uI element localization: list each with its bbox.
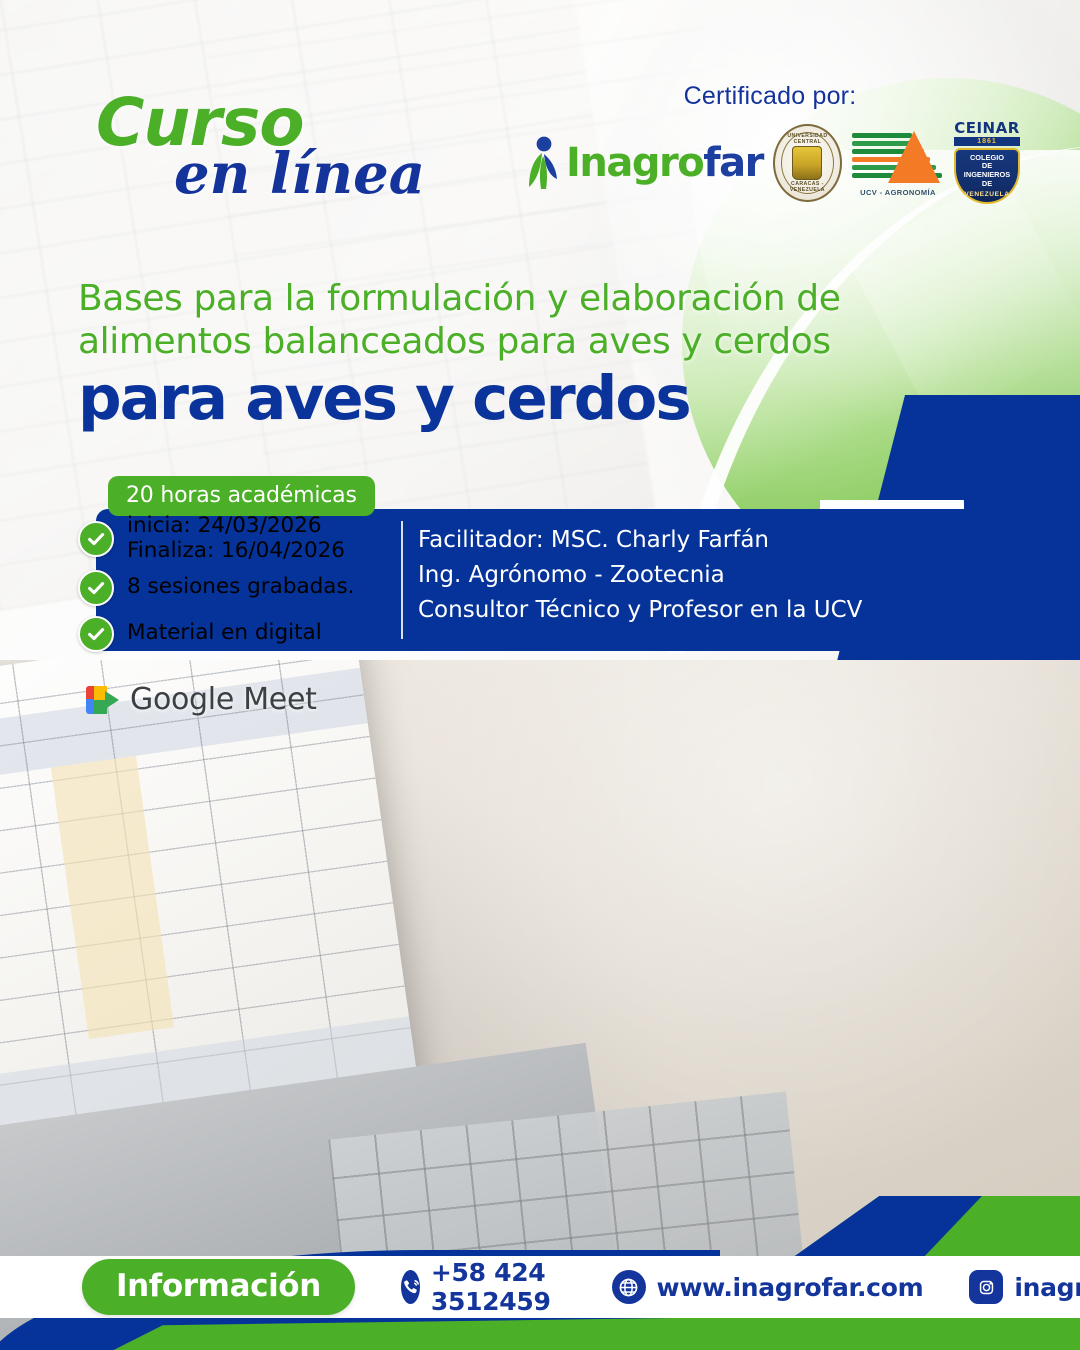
agronomia-a-shape [888,131,940,183]
ceinar-year: 1861 [954,137,1020,146]
ceinar-shield: COLEGIO DE INGENIEROS DE VENEZUELA [954,148,1020,204]
google-meet-badge: Google Meet [86,682,317,717]
google-meet-icon [86,686,120,714]
certified-by-label: Certificado por: [520,82,1020,111]
agronomia-glyph [852,129,944,185]
facilitator-line-3: Consultor Técnico y Profesor en la UCV [418,593,862,628]
kicker-en-linea: en línea [174,149,516,199]
bullet-dates: inicia: 24/03/2026 Finaliza: 16/04/2026 [78,514,355,564]
title-line-1: Bases para la formulación y elaboración … [78,278,898,321]
wordmark-i: I [566,140,579,186]
wordmark-far: far [703,140,763,186]
phone-number: +58 424 3512459 [431,1258,566,1316]
bullet-sessions-text: 8 sesiones grabadas. [127,575,355,600]
ucv-seal-icon: UNIVERSIDAD CENTRAL CARACAS - VENEZUELA [773,124,842,202]
facilitator-block: Facilitador: MSC. Charly Farfán Ing. Agr… [418,523,862,628]
course-bullets: inicia: 24/03/2026 Finaliza: 16/04/2026 … [78,514,355,656]
instagram-handle: inagrofar [1014,1273,1080,1302]
bullet-material-text: Material en digital [127,621,322,646]
flyer-canvas: Curso en línea Certificado por: Inagrofa… [0,0,1080,1350]
wordmark-nagro: nagro [579,140,703,186]
seal-bottom-text: CARACAS - VENEZUELA [775,181,840,193]
seal-top-text: UNIVERSIDAD CENTRAL [775,133,840,145]
ceinar-l4: DE [982,180,992,189]
google-meet-label: Google Meet [130,682,317,717]
agronomia-caption: UCV - AGRONOMÍA [852,188,944,197]
end-date: Finaliza: 16/04/2026 [127,538,345,563]
facilitator-line-2: Ing. Agrónomo - Zootecnia [418,558,862,593]
ceinar-l5: VENEZUELA [964,191,1009,199]
inagrofar-figure-icon [520,135,564,191]
panel-divider [401,521,403,639]
inagrofar-logo: Inagrofar [520,135,763,191]
page-title: Bases para la formulación y elaboración … [78,278,898,430]
inagrofar-wordmark: Inagrofar [566,140,763,186]
hours-badge: 20 horas académicas [108,476,375,516]
informacion-pill[interactable]: Información [82,1259,355,1315]
bullet-material: Material en digital [78,616,355,652]
title-highlight: para aves y cerdos [78,368,898,430]
course-kicker: Curso en línea [96,92,516,212]
ceinar-badge-icon: CEINAR 1861 COLEGIO DE INGENIEROS DE VEN… [954,121,1020,204]
website-url: www.inagrofar.com [657,1273,924,1302]
bullet-sessions: 8 sesiones grabadas. [78,570,355,606]
ucv-agronomia-mark-icon: UCV - AGRONOMÍA [852,129,944,197]
facilitator-line-1: Facilitador: MSC. Charly Farfán [418,523,862,558]
instagram-icon [969,1270,1003,1304]
bullet-dates-text: inicia: 24/03/2026 Finaliza: 16/04/2026 [127,514,345,564]
globe-icon [612,1270,646,1304]
check-circle-icon [78,570,114,606]
start-date: inicia: 24/03/2026 [127,513,322,538]
check-circle-icon [78,521,114,557]
certified-by-block: Certificado por: Inagrofar UNIVERSIDAD C… [520,82,1020,204]
phone-icon [401,1270,420,1304]
contact-phone[interactable]: +58 424 3512459 [401,1258,566,1316]
check-circle-icon [78,616,114,652]
contact-website[interactable]: www.inagrofar.com [612,1270,924,1304]
footer-contact-bar: Información +58 424 3512459 [0,1256,1080,1318]
ceinar-title: CEINAR [954,121,1020,136]
certifier-logos-row: Inagrofar UNIVERSIDAD CENTRAL CARACAS - … [520,121,1020,204]
contact-instagram[interactable]: inagrofar [969,1270,1080,1304]
title-line-2: alimentos balanceados para aves y cerdos [78,321,898,364]
